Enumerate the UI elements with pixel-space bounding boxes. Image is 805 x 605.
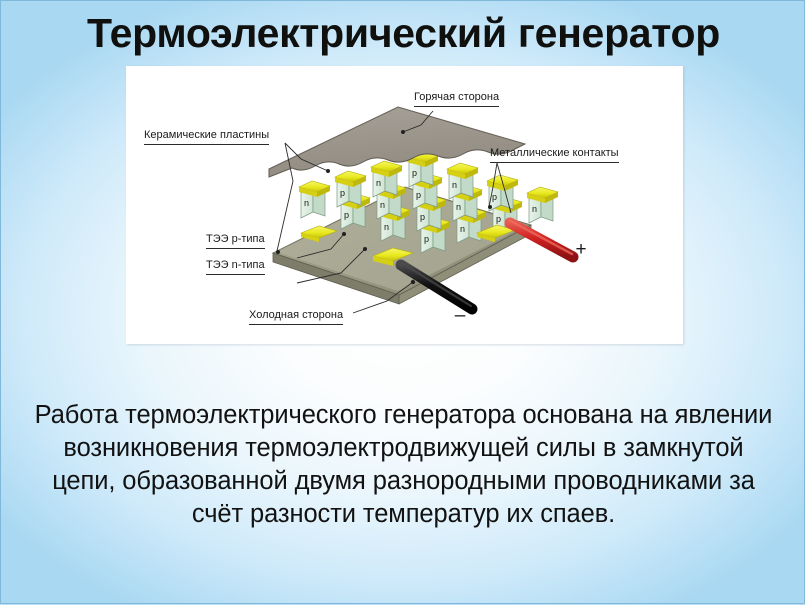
label-hot-side: Горячая сторона (414, 91, 499, 107)
body-line: цепи, образованной двумя разнородными пр… (19, 465, 788, 498)
body-line: счёт разности температур их спаев. (19, 498, 788, 531)
svg-text:n: n (452, 180, 457, 190)
svg-text:n: n (376, 178, 381, 188)
svg-text:p: p (492, 192, 497, 202)
label-tee-n-type: ТЭЭ n-типа (206, 259, 265, 275)
svg-text:p: p (412, 168, 417, 178)
svg-text:p: p (344, 210, 349, 220)
label-ceramic-plates: Керамические пластины (144, 129, 269, 145)
svg-text:p: p (424, 234, 429, 244)
label-tee-p-type: ТЭЭ p-типа (206, 233, 265, 249)
body-line: Работа термоэлектрического генератора ос… (19, 399, 788, 432)
svg-text:p: p (496, 214, 501, 224)
svg-text:p: p (340, 188, 345, 198)
terminal-plus-symbol: + (575, 239, 586, 260)
svg-text:n: n (460, 224, 465, 234)
svg-text:n: n (380, 200, 385, 210)
body-line: возникновения термоэлектродвижущей силы … (19, 432, 788, 465)
terminal-minus-symbol: – (455, 305, 466, 326)
svg-text:n: n (304, 198, 309, 208)
svg-text:n: n (532, 204, 537, 214)
slide-canvas: Термоэлектрический генератор (0, 0, 805, 604)
svg-text:p: p (416, 190, 421, 200)
label-metal-contacts: Металлические контакты (490, 147, 619, 163)
svg-text:n: n (456, 202, 461, 212)
label-cold-side: Холодная сторона (249, 309, 343, 325)
svg-text:p: p (420, 212, 425, 222)
body-paragraph: Работа термоэлектрического генератора ос… (19, 399, 788, 531)
svg-text:n: n (384, 222, 389, 232)
